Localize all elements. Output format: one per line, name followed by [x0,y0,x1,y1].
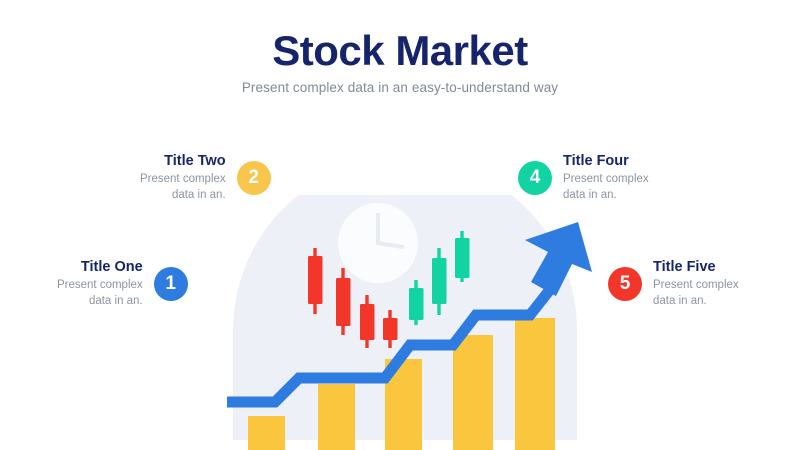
step-title-1: Title One [81,258,143,276]
step-title-2: Title Two [164,152,226,170]
step-item-1[interactable]: Title One Present complex data in an. 1 [57,258,188,309]
step-description-1: Present complex data in an. [57,278,143,309]
step-item-4[interactable]: 4 Title Four Present complex data in an. [518,152,649,203]
page-title: Stock Market [0,27,800,75]
step-text-4: Title Four Present complex data in an. [563,152,649,203]
clock-icon [338,203,418,283]
step-item-2[interactable]: Title Two Present complex data in an. 2 [140,152,271,203]
step-description-2: Present complex data in an. [140,172,226,203]
step-badge-4[interactable]: 4 [518,161,552,195]
bar [453,335,493,450]
step-description-4: Present complex data in an. [563,172,649,203]
step-description-5: Present complex data in an. [653,278,739,309]
step-text-2: Title Two Present complex data in an. [140,152,226,203]
bar [318,384,355,450]
step-badge-2[interactable]: 2 [237,161,271,195]
step-text-1: Title One Present complex data in an. [57,258,143,309]
bar [515,318,555,450]
step-title-5: Title Five [653,258,716,276]
candlestick-bear [336,268,351,335]
step-badge-1[interactable]: 1 [154,267,188,301]
stock-market-illustration [215,195,595,450]
bar [248,416,285,450]
candlestick-bull [455,231,470,282]
step-badge-5[interactable]: 5 [608,267,642,301]
step-item-5[interactable]: 5 Title Five Present complex data in an. [608,258,739,309]
page-subtitle: Present complex data in an easy-to-under… [0,80,800,95]
slide-canvas: Stock Market Present complex data in an … [0,0,800,450]
step-title-4: Title Four [563,152,629,170]
step-text-5: Title Five Present complex data in an. [653,258,739,309]
